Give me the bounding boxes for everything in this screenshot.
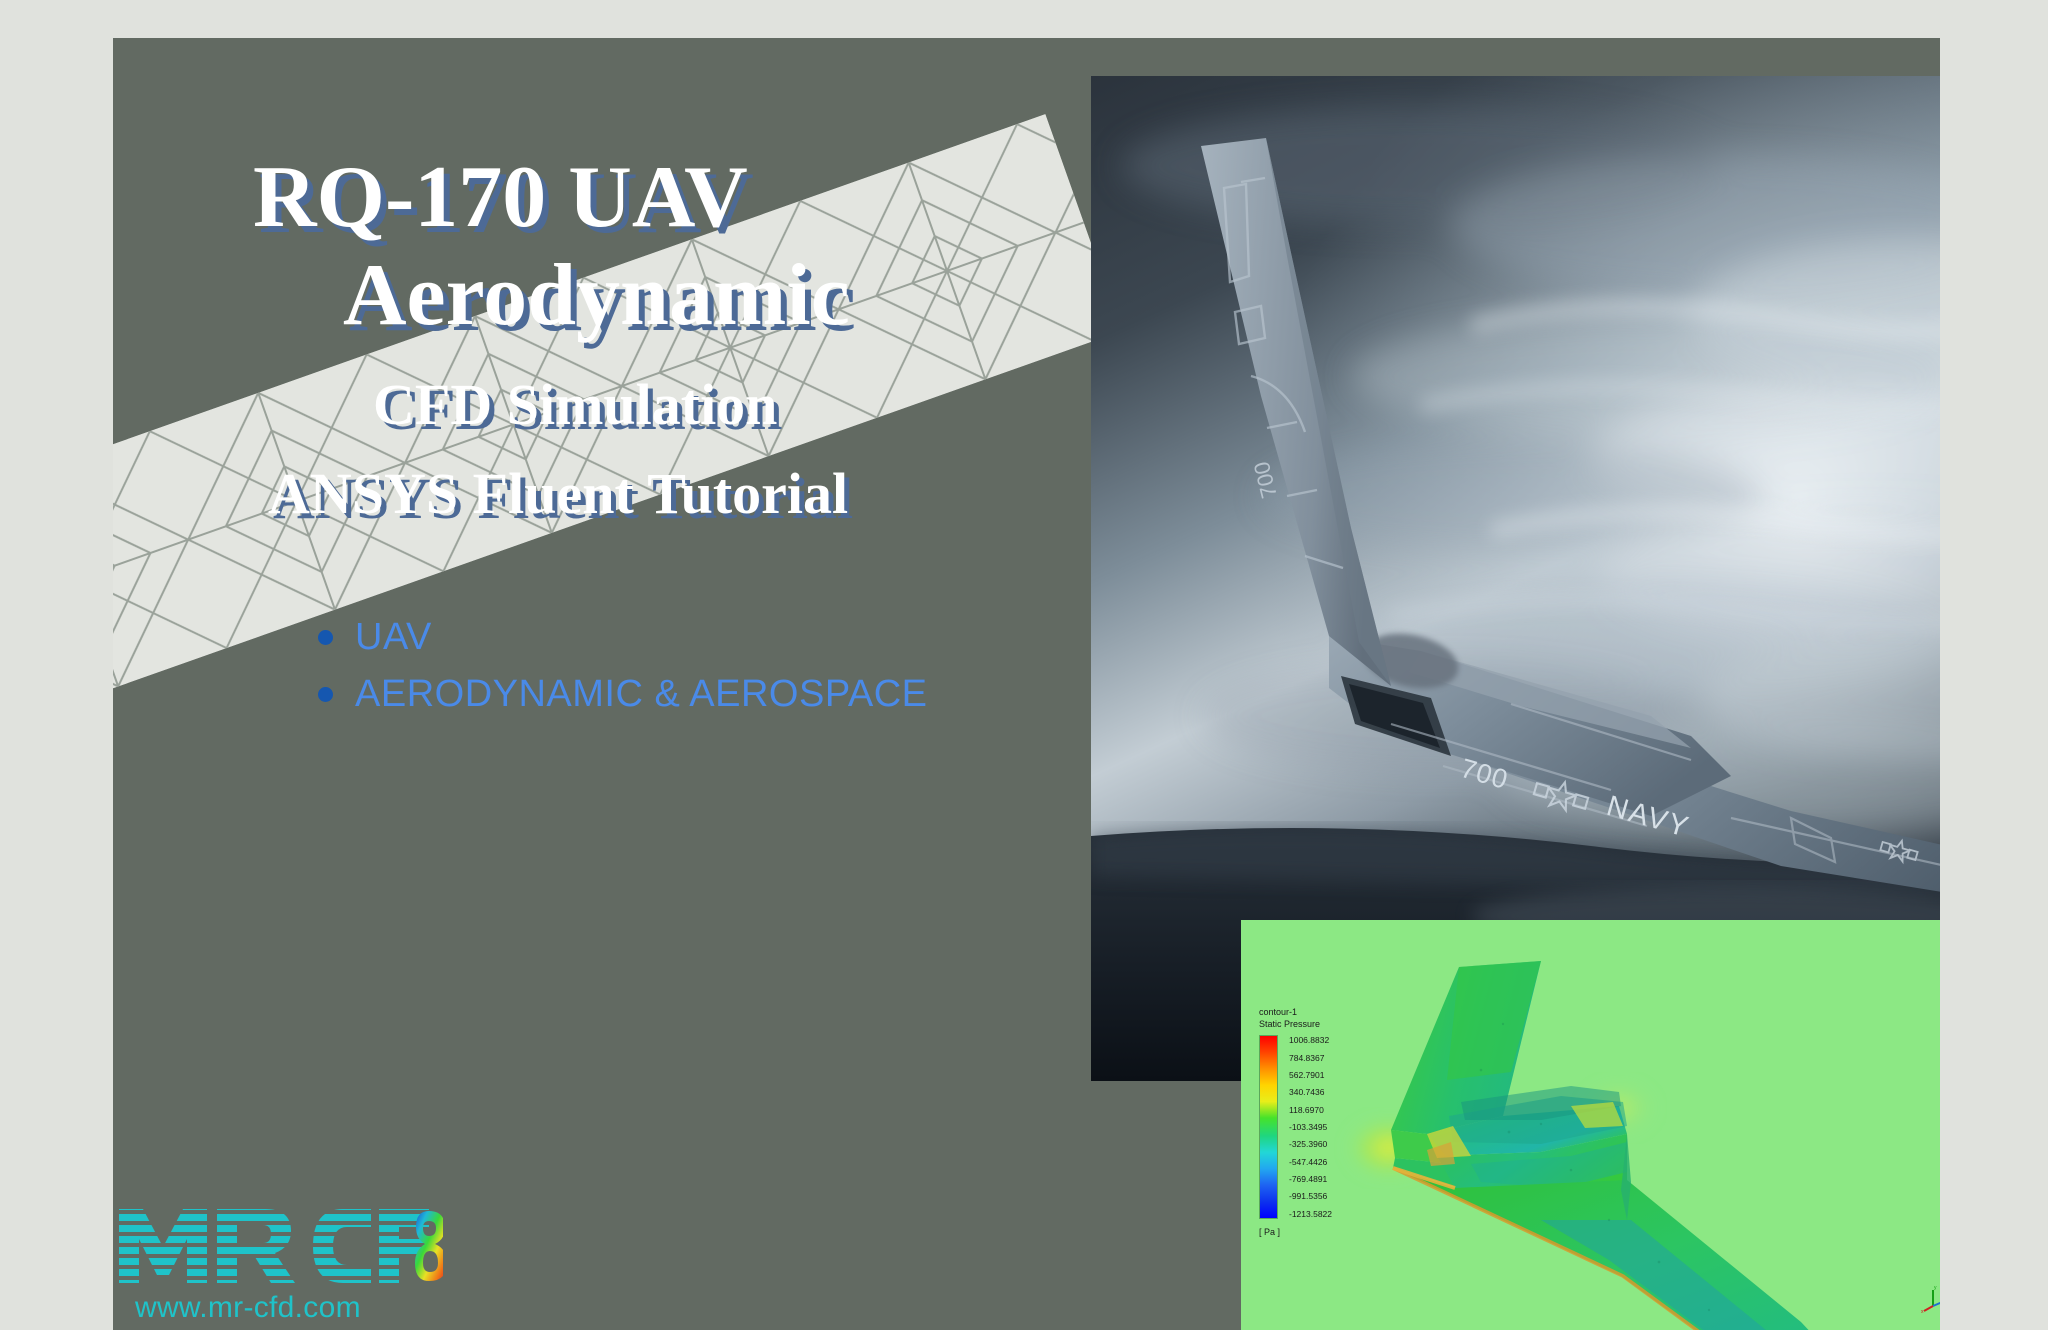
tick-label: 1006.8832 <box>1289 1036 1332 1045</box>
tick-label: -325.3960 <box>1289 1140 1332 1149</box>
bullet-dot-icon <box>318 630 333 645</box>
mr-cfd-logo <box>113 1203 533 1289</box>
colorbar-tick-labels: 1006.8832 784.8367 562.7901 340.7436 118… <box>1289 1035 1332 1218</box>
tick-label: 784.8367 <box>1289 1054 1332 1063</box>
cfd-legend-name: contour-1 <box>1259 1006 1332 1018</box>
bullet-dot-icon <box>318 687 333 702</box>
list-item: AERODYNAMIC & AEROSPACE <box>318 673 927 716</box>
axis-triad-icon: y z x <box>1921 1284 1940 1314</box>
colorbar-unit: [ Pa ] <box>1259 1227 1332 1237</box>
brand-block: www.mr-cfd.com info@mr-cfd.com <box>113 1203 533 1330</box>
subtitle-cfd-simulation: CFD Simulation <box>173 371 1013 438</box>
tick-label: -769.4891 <box>1289 1175 1332 1184</box>
colorbar <box>1259 1035 1278 1219</box>
tick-label: -1213.5822 <box>1289 1210 1332 1219</box>
cfd-legend: contour-1 Static Pressure 1006.8832 784.… <box>1259 1006 1332 1237</box>
tick-label: -547.4426 <box>1289 1158 1332 1167</box>
tick-label: 118.6970 <box>1289 1106 1332 1115</box>
website-link[interactable]: www.mr-cfd.com <box>113 1289 533 1327</box>
bullet-label: UAV <box>355 616 432 659</box>
slide-canvas: RQ-170 UAV Aerodynamic CFD Simulation AN… <box>0 0 2048 1330</box>
list-item: UAV <box>318 616 927 659</box>
svg-text:y: y <box>1934 1285 1937 1291</box>
cfd-contour-panel: contour-1 Static Pressure 1006.8832 784.… <box>1241 920 1940 1330</box>
page-title-line-1: RQ-170 UAV <box>173 153 1013 243</box>
topic-bullet-list: UAV AERODYNAMIC & AEROSPACE <box>318 616 927 730</box>
tick-label: -103.3495 <box>1289 1123 1332 1132</box>
content-panel: RQ-170 UAV Aerodynamic CFD Simulation AN… <box>113 38 1940 1330</box>
cfd-legend-title: contour-1 Static Pressure <box>1259 1006 1332 1030</box>
tick-label: 562.7901 <box>1289 1071 1332 1080</box>
cfd-legend-variable: Static Pressure <box>1259 1018 1332 1030</box>
tick-label: 340.7436 <box>1289 1088 1332 1097</box>
page-title-line-2: Aerodynamic <box>173 251 1013 341</box>
tick-label: -991.5356 <box>1289 1192 1332 1201</box>
subtitle-ansys-fluent-tutorial: ANSYS Fluent Tutorial <box>173 460 1013 527</box>
headline-block: RQ-170 UAV Aerodynamic CFD Simulation AN… <box>173 153 1013 527</box>
svg-text:x: x <box>1921 1309 1924 1314</box>
bullet-label: AERODYNAMIC & AEROSPACE <box>355 673 927 716</box>
email-link[interactable]: info@mr-cfd.com <box>113 1327 533 1330</box>
